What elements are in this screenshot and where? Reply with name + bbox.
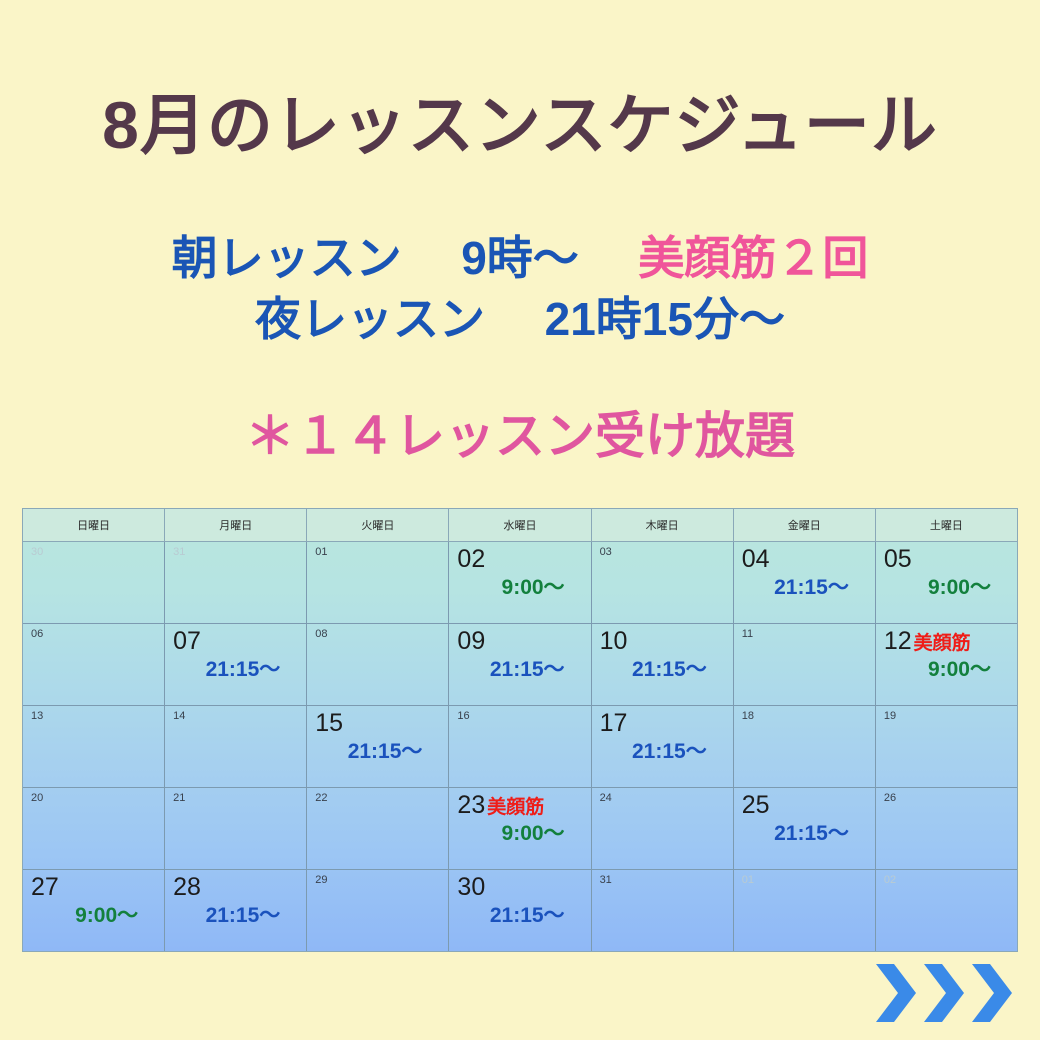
day-number-row: 08 [315,628,440,640]
day-number: 13 [31,710,43,722]
day-number: 30 [31,546,43,558]
calendar-day-cell[interactable]: 3021:15〜 [449,870,591,951]
calendar-week-row: 279:00〜2821:15〜293021:15〜310102 [23,870,1017,951]
day-number: 24 [600,792,612,804]
calendar-day-cell[interactable]: 03 [592,542,734,623]
day-number-row: 21 [173,792,298,804]
day-number: 29 [315,874,327,886]
calendar-day-cell[interactable]: 12美顔筋9:00〜 [876,624,1017,705]
chevron-right-icon [970,962,1014,1024]
day-number: 26 [884,792,896,804]
calendar-day-cell[interactable]: 1021:15〜 [592,624,734,705]
subtitle-line-morning: 朝レッスン 9時〜 美顔筋２回 [0,228,1040,289]
day-number: 25 [742,792,770,820]
calendar-header-row: 日曜日月曜日火曜日水曜日木曜日金曜日土曜日 [23,509,1017,542]
calendar-day-cell[interactable]: 279:00〜 [23,870,165,951]
unlimited-lessons-headline: ＊１４レッスン受け放題 [0,396,1040,468]
calendar-day-cell[interactable]: 0421:15〜 [734,542,876,623]
calendar-day-cell[interactable]: 29 [307,870,449,951]
day-number-row: 13 [31,710,156,722]
subtitle-block: 朝レッスン 9時〜 美顔筋２回 夜レッスン 21時15分〜 [0,228,1040,349]
day-number: 15 [315,710,343,738]
calendar-day-cell[interactable]: 2821:15〜 [165,870,307,951]
calendar-day-cell[interactable]: 18 [734,706,876,787]
day-number: 02 [457,546,485,574]
calendar-week-row: 13141521:15〜161721:15〜1819 [23,706,1017,788]
calendar-day-cell[interactable]: 16 [449,706,591,787]
special-lesson-note: 美顔筋２回 [638,232,868,284]
evening-lesson-time: 21時15分〜 [545,293,785,345]
lesson-time: 21:15〜 [600,658,725,682]
day-number-row: 05 [884,546,1009,574]
lesson-time: 21:15〜 [457,904,582,928]
day-number-row: 09 [457,628,582,656]
day-number-row: 02 [884,874,1009,886]
lesson-tag: 美顔筋 [487,798,544,817]
weekday-header-5: 金曜日 [734,509,876,541]
day-number-row: 30 [31,546,156,558]
day-number-row: 24 [600,792,725,804]
chevron-right-icon [922,962,966,1024]
morning-lesson-time: 9時〜 [461,232,579,284]
chevron-decoration [874,962,1014,1024]
day-number: 31 [173,546,185,558]
day-number: 03 [600,546,612,558]
lesson-time: 21:15〜 [600,740,725,764]
calendar-day-cell[interactable]: 31 [165,542,307,623]
page-title: 8月のレッスンスケジュール [0,92,1040,158]
calendar-week-row: 303101029:00〜030421:15〜059:00〜 [23,542,1017,624]
calendar-day-cell[interactable]: 0721:15〜 [165,624,307,705]
day-number: 19 [884,710,896,722]
day-number: 20 [31,792,43,804]
calendar-day-cell[interactable]: 2521:15〜 [734,788,876,869]
day-number: 28 [173,874,201,902]
day-number-row: 17 [600,710,725,738]
day-number: 27 [31,874,59,902]
calendar-day-cell[interactable]: 08 [307,624,449,705]
day-number: 17 [600,710,628,738]
day-number: 01 [742,874,754,886]
calendar-day-cell[interactable]: 01 [307,542,449,623]
day-number-row: 30 [457,874,582,902]
day-number: 21 [173,792,185,804]
lesson-time: 21:15〜 [173,658,298,682]
day-number-row: 22 [315,792,440,804]
day-number: 11 [742,628,753,640]
lesson-time: 21:15〜 [742,822,867,846]
day-number-row: 31 [173,546,298,558]
weekday-header-6: 土曜日 [876,509,1017,541]
day-number-row: 03 [600,546,725,558]
day-number: 23 [457,792,485,820]
day-number: 04 [742,546,770,574]
calendar-day-cell[interactable]: 01 [734,870,876,951]
morning-lesson-label: 朝レッスン [172,232,402,284]
weekday-header-0: 日曜日 [23,509,165,541]
subtitle-line-evening: 夜レッスン 21時15分〜 [0,289,1040,350]
day-number-row: 26 [884,792,1009,804]
calendar-day-cell[interactable]: 02 [876,870,1017,951]
day-number-row: 12美顔筋 [884,628,1009,656]
weekday-header-1: 月曜日 [165,509,307,541]
day-number-row: 29 [315,874,440,886]
calendar: 日曜日月曜日火曜日水曜日木曜日金曜日土曜日 303101029:00〜03042… [22,508,1018,952]
calendar-day-cell[interactable]: 24 [592,788,734,869]
day-number: 05 [884,546,912,574]
day-number-row: 07 [173,628,298,656]
calendar-day-cell[interactable]: 0921:15〜 [449,624,591,705]
lesson-time: 9:00〜 [884,658,1009,682]
day-number: 09 [457,628,485,656]
lesson-time: 21:15〜 [457,658,582,682]
day-number-row: 28 [173,874,298,902]
day-number: 31 [600,874,612,886]
weekday-header-2: 火曜日 [307,509,449,541]
day-number: 22 [315,792,327,804]
calendar-day-cell[interactable]: 31 [592,870,734,951]
day-number: 07 [173,628,201,656]
lesson-time: 9:00〜 [884,576,1009,600]
calendar-day-cell[interactable]: 11 [734,624,876,705]
weekday-header-3: 水曜日 [449,509,591,541]
calendar-day-cell[interactable]: 13 [23,706,165,787]
calendar-day-cell[interactable]: 26 [876,788,1017,869]
poster-root: 8月のレッスンスケジュール 朝レッスン 9時〜 美顔筋２回 夜レッスン 21時1… [0,0,1040,1040]
calendar-day-cell[interactable]: 14 [165,706,307,787]
day-number-row: 16 [457,710,582,722]
day-number-row: 23美顔筋 [457,792,582,820]
day-number: 01 [315,546,327,558]
lesson-time: 21:15〜 [173,904,298,928]
day-number-row: 20 [31,792,156,804]
day-number: 10 [600,628,628,656]
day-number-row: 06 [31,628,156,640]
day-number-row: 11 [742,628,867,640]
calendar-day-cell[interactable]: 029:00〜 [449,542,591,623]
day-number: 14 [173,710,185,722]
weekday-header-4: 木曜日 [592,509,734,541]
day-number-row: 18 [742,710,867,722]
lesson-time: 9:00〜 [457,576,582,600]
calendar-day-cell[interactable]: 1721:15〜 [592,706,734,787]
calendar-day-cell[interactable]: 30 [23,542,165,623]
day-number-row: 01 [315,546,440,558]
lesson-time: 21:15〜 [315,740,440,764]
calendar-day-cell[interactable]: 059:00〜 [876,542,1017,623]
calendar-day-cell[interactable]: 1521:15〜 [307,706,449,787]
chevron-right-icon [874,962,918,1024]
calendar-week-row: 060721:15〜080921:15〜1021:15〜1112美顔筋9:00〜 [23,624,1017,706]
day-number: 06 [31,628,43,640]
calendar-day-cell[interactable]: 20 [23,788,165,869]
lesson-time: 9:00〜 [31,904,156,928]
day-number-row: 14 [173,710,298,722]
day-number-row: 02 [457,546,582,574]
day-number: 08 [315,628,327,640]
day-number: 16 [457,710,469,722]
lesson-time: 9:00〜 [457,822,582,846]
day-number-row: 01 [742,874,867,886]
day-number-row: 15 [315,710,440,738]
day-number-row: 27 [31,874,156,902]
calendar-day-cell[interactable]: 22 [307,788,449,869]
lesson-tag: 美顔筋 [914,634,971,653]
calendar-week-row: 20212223美顔筋9:00〜242521:15〜26 [23,788,1017,870]
day-number-row: 04 [742,546,867,574]
evening-lesson-label: 夜レッスン [255,293,485,345]
lesson-time: 21:15〜 [742,576,867,600]
day-number-row: 19 [884,710,1009,722]
calendar-day-cell[interactable]: 06 [23,624,165,705]
day-number-row: 31 [600,874,725,886]
day-number: 12 [884,628,912,656]
day-number: 30 [457,874,485,902]
calendar-body: 303101029:00〜030421:15〜059:00〜060721:15〜… [23,542,1017,951]
calendar-day-cell[interactable]: 23美顔筋9:00〜 [449,788,591,869]
day-number: 18 [742,710,754,722]
calendar-day-cell[interactable]: 19 [876,706,1017,787]
day-number-row: 10 [600,628,725,656]
calendar-day-cell[interactable]: 21 [165,788,307,869]
day-number: 02 [884,874,896,886]
day-number-row: 25 [742,792,867,820]
